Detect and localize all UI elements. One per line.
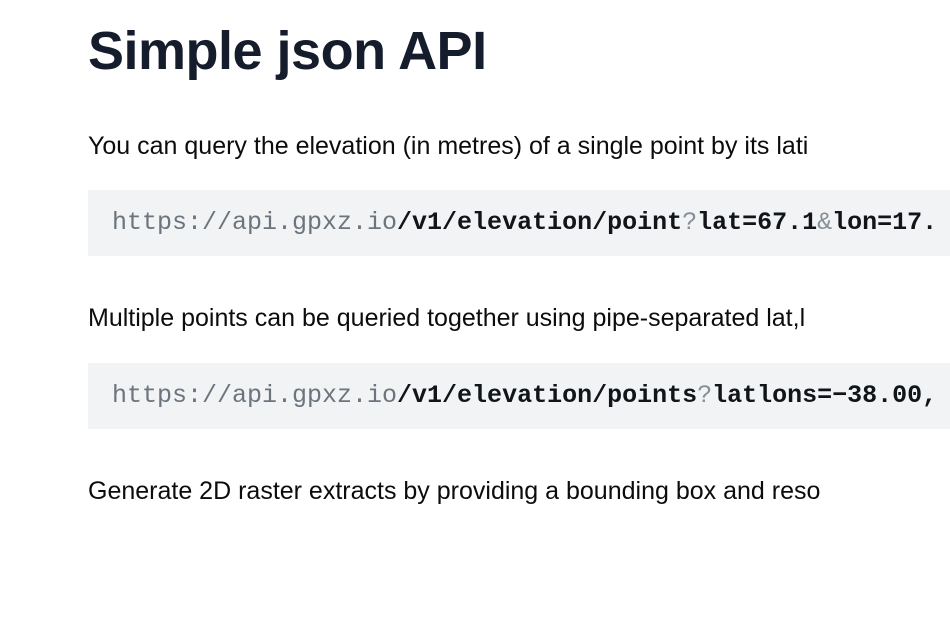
code-line-points-url: https://api.gpxz.io/v1/elevation/points?… [112, 381, 950, 411]
code-line-point-url: https://api.gpxz.io/v1/elevation/point?l… [112, 208, 950, 238]
paragraph-raster-extract: Generate 2D raster extracts by providing… [88, 473, 950, 509]
url-param-lon: lon=17. [832, 208, 937, 237]
content-column: Simple json API You can query the elevat… [88, 0, 950, 509]
url-path: /v1/elevation/points [397, 381, 697, 410]
url-param-lat: lat=67.1 [697, 208, 817, 237]
url-param-latlons: latlons=−38.00, [712, 381, 937, 410]
code-block-point-endpoint[interactable]: https://api.gpxz.io/v1/elevation/point?l… [88, 190, 950, 256]
paragraph-point-query: You can query the elevation (in metres) … [88, 128, 950, 164]
code-block-points-endpoint[interactable]: https://api.gpxz.io/v1/elevation/points?… [88, 363, 950, 429]
url-query-mark: ? [682, 208, 697, 237]
url-host: https://api.gpxz.io [112, 208, 397, 237]
paragraph-multi-point-query: Multiple points can be queried together … [88, 300, 950, 336]
url-host: https://api.gpxz.io [112, 381, 397, 410]
url-path: /v1/elevation/point [397, 208, 682, 237]
url-query-mark: ? [697, 381, 712, 410]
url-param-separator: & [817, 208, 832, 237]
documentation-page: Simple json API You can query the elevat… [0, 0, 950, 628]
page-title: Simple json API [88, 0, 950, 82]
